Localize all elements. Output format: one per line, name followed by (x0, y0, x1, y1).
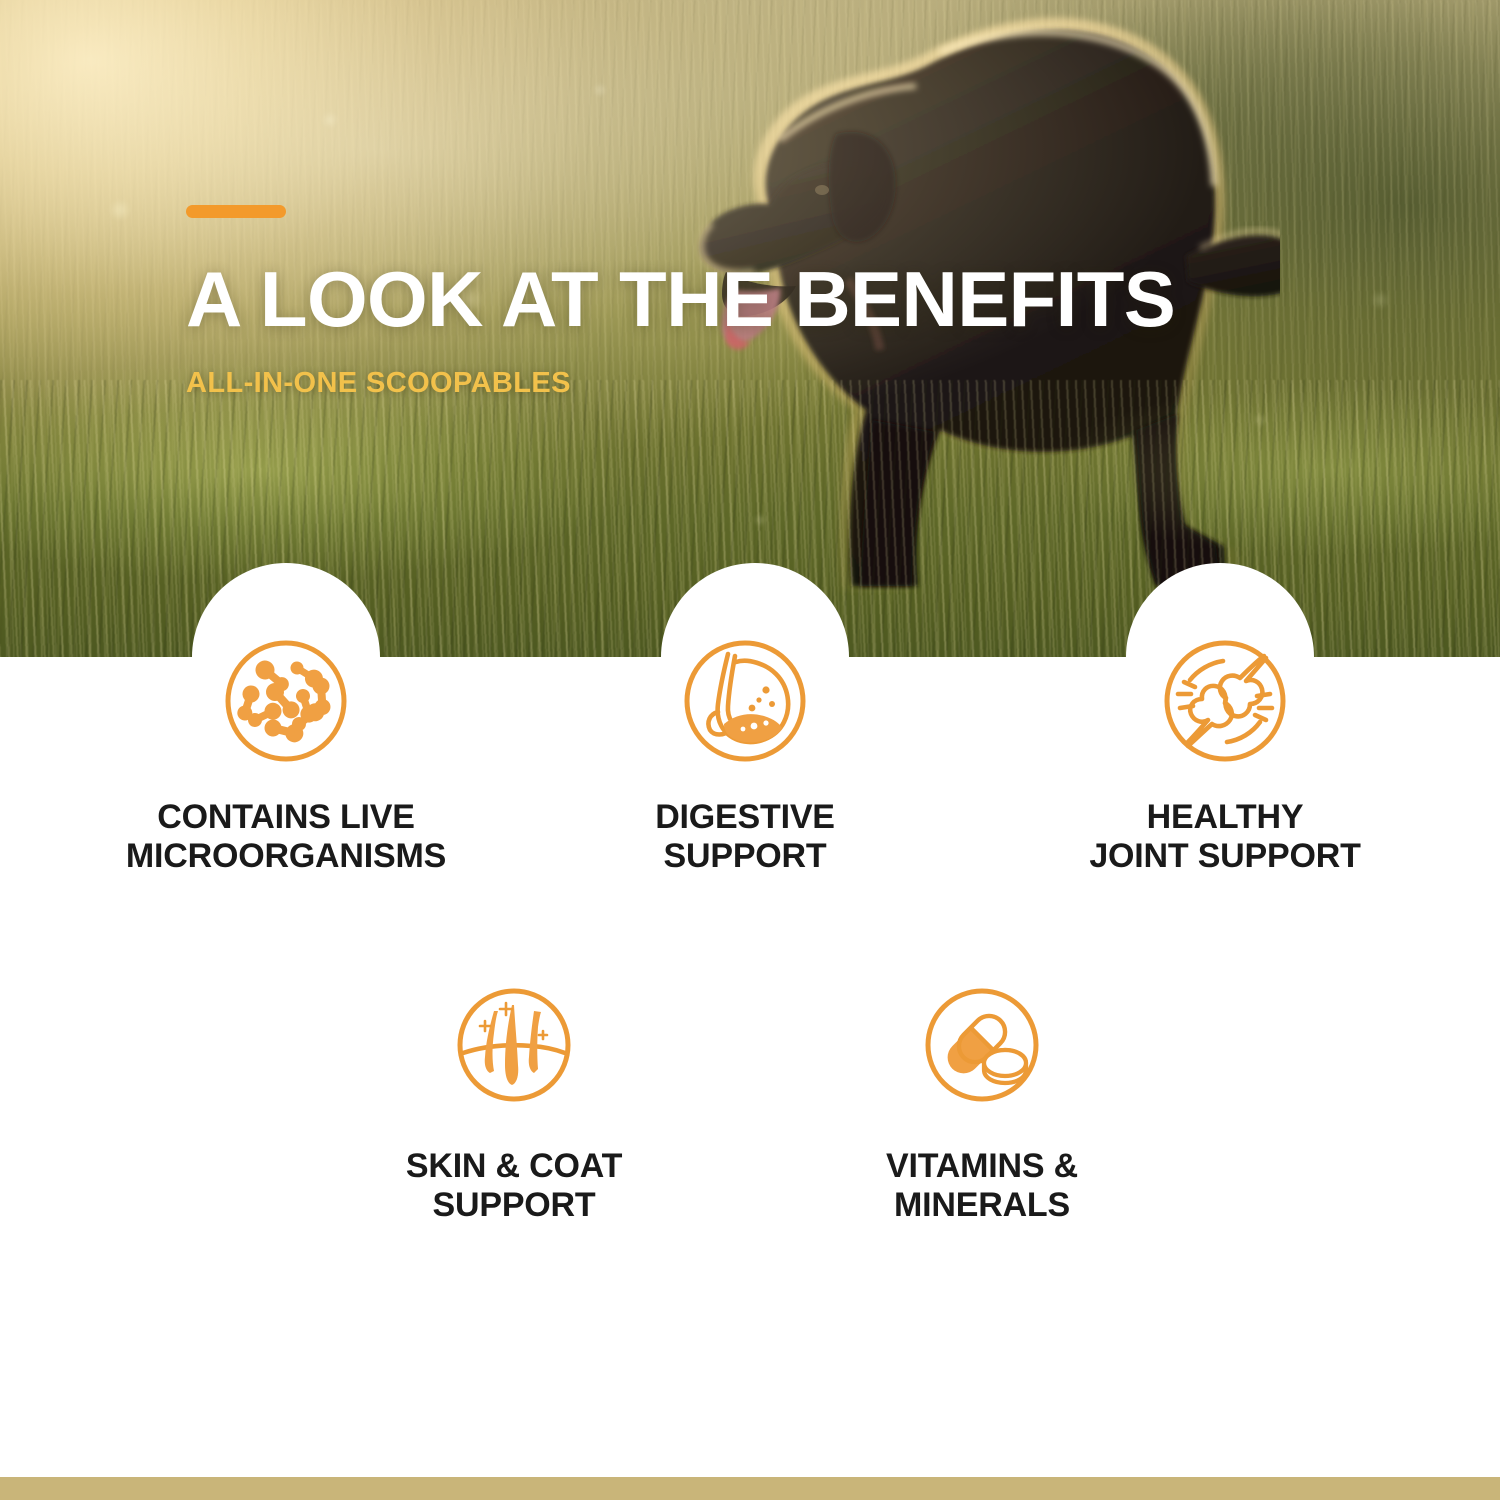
microorganisms-icon (221, 636, 351, 766)
pill-capsule-icon (922, 985, 1042, 1105)
benefit-label: CONTAINS LIVE MICROORGANISMS (86, 798, 486, 877)
icon-holder (1015, 636, 1435, 766)
benefit-label-line1: DIGESTIVE (555, 798, 935, 837)
benefit-label: VITAMINS & MINERALS (792, 1147, 1172, 1226)
benefit-label-line2: MICROORGANISMS (86, 837, 486, 876)
benefit-label: HEALTHY JOINT SUPPORT (1015, 798, 1435, 877)
benefits-grid: CONTAINS LIVE MICROORGANISMS (0, 0, 1500, 1500)
benefit-label-line2: JOINT SUPPORT (1015, 837, 1435, 876)
benefit-label-line2: MINERALS (792, 1186, 1172, 1225)
icon-holder (324, 985, 704, 1105)
benefit-label-line1: VITAMINS & (792, 1147, 1172, 1186)
benefit-label-line1: SKIN & COAT (324, 1147, 704, 1186)
benefit-label-line2: SUPPORT (324, 1186, 704, 1225)
benefit-item-vitamins-and-minerals: VITAMINS & MINERALS (792, 985, 1172, 1226)
hair-coat-icon (454, 985, 574, 1105)
benefit-label-line1: CONTAINS LIVE (86, 798, 486, 837)
benefit-label: DIGESTIVE SUPPORT (555, 798, 935, 877)
joint-bone-icon (1160, 636, 1290, 766)
icon-holder (792, 985, 1172, 1105)
benefit-item-contains-live-microorganisms: CONTAINS LIVE MICROORGANISMS (86, 636, 486, 877)
benefit-label-line2: SUPPORT (555, 837, 935, 876)
benefit-label-line1: HEALTHY (1015, 798, 1435, 837)
benefit-item-skin-and-coat-support: SKIN & COAT SUPPORT (324, 985, 704, 1226)
icon-holder (86, 636, 486, 766)
footer-divider-bar (0, 1477, 1500, 1500)
benefit-item-digestive-support: DIGESTIVE SUPPORT (555, 636, 935, 877)
benefit-label: SKIN & COAT SUPPORT (324, 1147, 704, 1226)
stomach-icon (680, 636, 810, 766)
benefit-item-healthy-joint-support: HEALTHY JOINT SUPPORT (1015, 636, 1435, 877)
icon-holder (555, 636, 935, 766)
